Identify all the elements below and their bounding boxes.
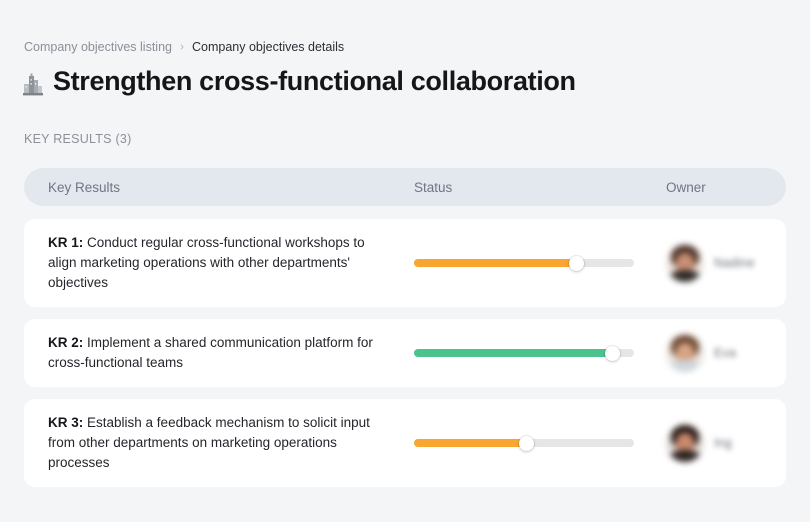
- page-header: Strengthen cross-functional collaboratio…: [22, 66, 576, 97]
- page-title: Strengthen cross-functional collaboratio…: [53, 66, 576, 97]
- table-body: KR 1: Conduct regular cross-functional w…: [24, 219, 786, 487]
- key-result-tag: KR 1:: [48, 235, 83, 250]
- key-results-table: Key Results Status Owner KR 1: Conduct r…: [24, 168, 786, 499]
- key-results-section-label: KEY RESULTS (3): [24, 132, 132, 146]
- progress-slider[interactable]: [414, 259, 634, 267]
- progress-thumb[interactable]: [519, 436, 534, 451]
- progress-thumb[interactable]: [605, 346, 620, 361]
- owner-cell[interactable]: Nadine: [644, 244, 786, 282]
- key-result-description: Implement a shared communication platfor…: [48, 335, 373, 370]
- column-header-owner: Owner: [644, 180, 786, 195]
- key-result-text: KR 3: Establish a feedback mechanism to …: [24, 413, 394, 473]
- progress-fill: [414, 349, 612, 357]
- key-result-tag: KR 2:: [48, 335, 83, 350]
- status-cell: [394, 349, 644, 357]
- column-header-key-results: Key Results: [24, 180, 394, 195]
- status-cell: [394, 259, 644, 267]
- avatar: [666, 334, 704, 372]
- owner-cell[interactable]: Eva: [644, 334, 786, 372]
- breadcrumb: Company objectives listing › Company obj…: [24, 38, 344, 56]
- breadcrumb-current: Company objectives details: [192, 38, 344, 56]
- table-header-row: Key Results Status Owner: [24, 168, 786, 206]
- chevron-right-icon: ›: [180, 38, 184, 56]
- key-result-description: Establish a feedback mechanism to solici…: [48, 415, 370, 470]
- owner-name: Nadine: [714, 256, 755, 270]
- owner-name: Eva: [714, 346, 736, 360]
- progress-slider[interactable]: [414, 439, 634, 447]
- progress-fill: [414, 439, 526, 447]
- column-header-status: Status: [394, 180, 644, 195]
- owner-cell[interactable]: Ing: [644, 424, 786, 462]
- key-result-description: Conduct regular cross-functional worksho…: [48, 235, 365, 290]
- avatar: [666, 424, 704, 462]
- key-result-tag: KR 3:: [48, 415, 83, 430]
- owner-name: Ing: [714, 436, 732, 450]
- table-row[interactable]: KR 3: Establish a feedback mechanism to …: [24, 399, 786, 487]
- table-row[interactable]: KR 2: Implement a shared communication p…: [24, 319, 786, 387]
- status-cell: [394, 439, 644, 447]
- key-result-text: KR 1: Conduct regular cross-functional w…: [24, 233, 394, 293]
- progress-slider[interactable]: [414, 349, 634, 357]
- breadcrumb-link-parent[interactable]: Company objectives listing: [24, 38, 172, 56]
- progress-thumb[interactable]: [569, 256, 584, 271]
- progress-fill: [414, 259, 577, 267]
- key-result-text: KR 2: Implement a shared communication p…: [24, 333, 394, 373]
- avatar: [666, 244, 704, 282]
- cityscape-building-icon: [22, 71, 44, 97]
- table-row[interactable]: KR 1: Conduct regular cross-functional w…: [24, 219, 786, 307]
- page-root: Company objectives listing › Company obj…: [0, 0, 810, 522]
